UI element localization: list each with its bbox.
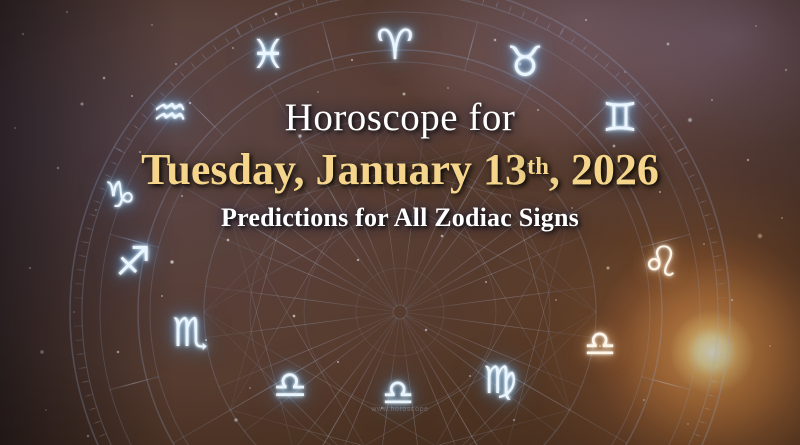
zodiac-libra-right-icon: ♎ xyxy=(584,327,616,363)
zodiac-sagittarius-icon: ♐ xyxy=(115,242,151,282)
date-ordinal-suffix: th xyxy=(527,153,549,180)
date-lead: Tuesday, January 13 xyxy=(141,145,527,194)
title-block: Horoscope for Tuesday, January 13th, 202… xyxy=(0,98,800,231)
date-title: Tuesday, January 13th, 2026 xyxy=(0,147,800,193)
zodiac-aries-icon: ♈ xyxy=(376,24,414,66)
zodiac-scorpio-icon: ♏ xyxy=(172,313,208,353)
date-year: 2026 xyxy=(571,145,659,194)
horoscope-banner: ♓♈♉♒♊♑♌♐♏♎♎♍♎ Horoscope for Tuesday, Jan… xyxy=(0,0,800,445)
zodiac-pisces-icon: ♓ xyxy=(250,35,286,75)
zodiac-taurus-icon: ♉ xyxy=(506,41,544,83)
date-year-part: , xyxy=(549,145,571,194)
watermark-text: www.horoscope xyxy=(0,406,800,413)
zodiac-leo-icon: ♌ xyxy=(642,241,680,283)
zodiac-virgo-icon: ♍ xyxy=(483,361,517,399)
page-subtitle: Predictions for All Zodiac Signs xyxy=(0,204,800,231)
page-title: Horoscope for xyxy=(0,98,800,139)
zodiac-libra-left-icon: ♎ xyxy=(273,366,307,404)
